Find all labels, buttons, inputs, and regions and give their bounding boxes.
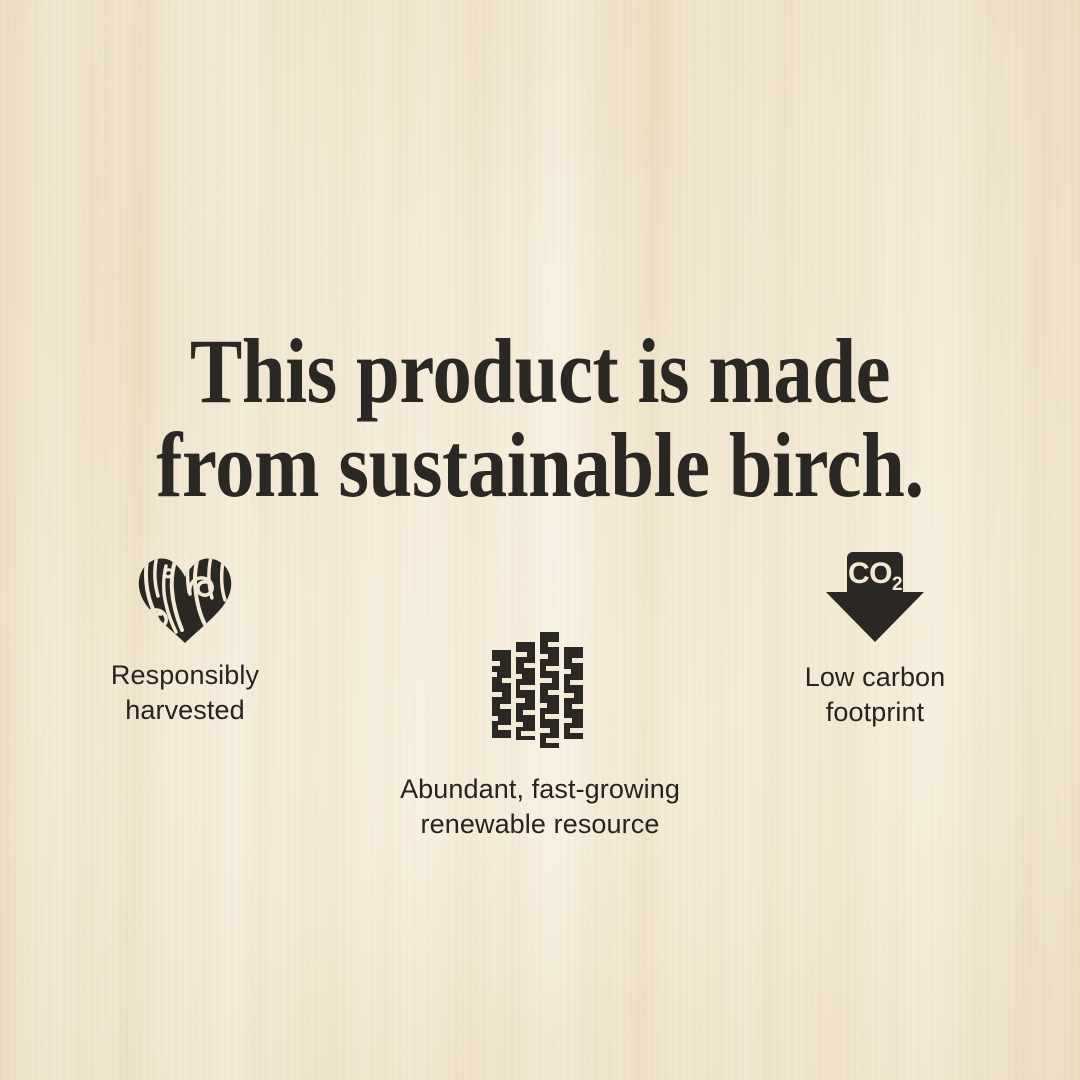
page-title: This product is made from sustainable bi… [78,324,1001,514]
birch-trunks-icon [490,630,590,748]
sustainability-poster: This product is made from sustainable bi… [0,0,1080,1080]
caption-line-1: Abundant, fast-growing [340,772,740,807]
caption-line-2: harvested [65,693,305,728]
wood-grain-heart-icon [137,552,233,644]
feature-low-carbon-footprint: CO2 Low carbon footprint [755,550,995,730]
headline-line-1: This product is made [78,324,1001,419]
feature-icon-container: CO2 [755,550,995,644]
feature-caption: Low carbon footprint [755,660,995,730]
feature-icon-container [65,548,305,644]
feature-caption: Abundant, fast-growing renewable resourc… [340,772,740,842]
feature-caption: Responsibly harvested [65,658,305,728]
caption-line-2: footprint [755,695,995,730]
co2-down-arrow-icon: CO2 [821,552,929,644]
caption-line-1: Responsibly [65,658,305,693]
feature-renewable-resource: Abundant, fast-growing renewable resourc… [340,626,740,842]
feature-responsibly-harvested: Responsibly harvested [65,548,305,728]
caption-line-2: renewable resource [340,807,740,842]
headline-line-2: from sustainable birch. [78,418,1001,513]
caption-line-1: Low carbon [755,660,995,695]
poster-content: This product is made from sustainable bi… [0,0,1080,1080]
feature-icon-container [340,626,740,748]
